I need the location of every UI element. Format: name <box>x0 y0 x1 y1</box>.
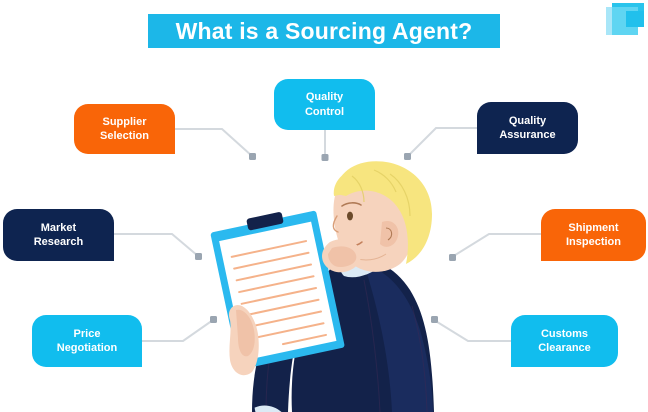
overlapping-squares-logo-icon <box>606 3 644 37</box>
node-label-line2: Selection <box>100 130 149 142</box>
node-market-research[interactable]: Market Research <box>3 209 114 261</box>
title-banner: What is a Sourcing Agent? <box>148 14 500 48</box>
logo-square-5 <box>612 27 638 35</box>
connector-supplier-selection <box>175 129 252 156</box>
node-label-line1: Supplier <box>102 116 146 128</box>
node-label-line2: Research <box>34 236 84 248</box>
page-title: What is a Sourcing Agent? <box>176 18 473 45</box>
infographic-canvas: What is a Sourcing Agent? Supplier Selec… <box>0 0 648 412</box>
node-label-line1: Shipment <box>568 222 618 234</box>
node-label-line2: Control <box>305 106 344 118</box>
connector-shipment-inspection <box>452 234 541 257</box>
node-label-line2: Inspection <box>566 236 621 248</box>
node-label-line2: Clearance <box>538 342 591 354</box>
man-reading-clipboard-illustration <box>196 160 452 412</box>
node-price-negotiation[interactable]: Price Negotiation <box>32 315 142 367</box>
node-label-line1: Price <box>74 328 101 340</box>
connector-dot-supplier-selection <box>249 153 256 160</box>
node-shipment-inspection[interactable]: Shipment Inspection <box>541 209 646 261</box>
connector-dot-quality-assurance <box>404 153 411 160</box>
node-label-line2: Assurance <box>499 129 555 141</box>
node-quality-control[interactable]: Quality Control <box>274 79 375 130</box>
node-quality-assurance[interactable]: Quality Assurance <box>477 102 578 154</box>
node-label-line1: Customs <box>541 328 588 340</box>
logo-square-4 <box>626 11 644 27</box>
node-label-line1: Quality <box>509 115 546 127</box>
clipboard <box>209 204 345 369</box>
node-supplier-selection[interactable]: Supplier Selection <box>74 104 175 154</box>
node-label-line1: Quality <box>306 91 343 103</box>
node-customs-clearance[interactable]: Customs Clearance <box>511 315 618 367</box>
eye <box>347 212 353 221</box>
node-label-line1: Market <box>41 222 76 234</box>
node-label-line2: Negotiation <box>57 342 118 354</box>
connector-market-research <box>114 234 198 256</box>
connector-quality-assurance <box>408 128 477 156</box>
